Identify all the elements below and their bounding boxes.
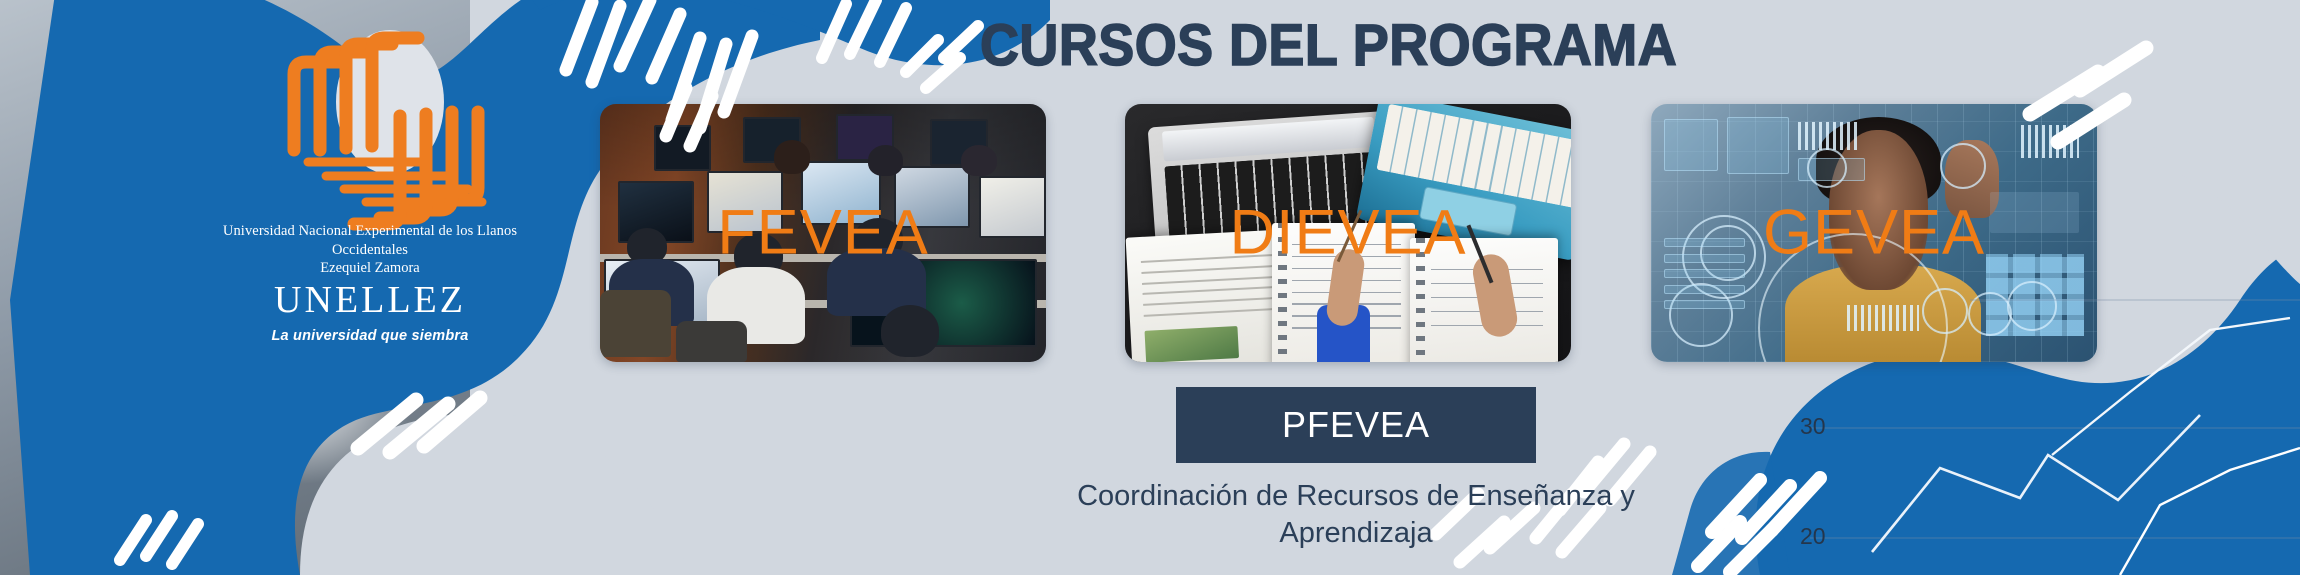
- program-caption: Coordinación de Recursos de Enseñanza y …: [1020, 478, 1692, 552]
- course-label-dievea: DIEVEA: [1125, 202, 1571, 265]
- pfevea-button[interactable]: PFEVEA: [1176, 387, 1536, 463]
- unellez-logo-icon: [282, 28, 492, 234]
- course-label-fevea: FEVEA: [600, 202, 1046, 265]
- unellez-logo-text: Universidad Nacional Experimental de los…: [190, 222, 550, 344]
- logo-institution-line-2: Ezequiel Zamora: [190, 259, 550, 278]
- program-caption-line-1: Coordinación de Recursos de Enseñanza y: [1077, 480, 1635, 512]
- banner-root: Universidad Nacional Experimental de los…: [0, 0, 2300, 575]
- program-caption-line-2: Aprendizaja: [1279, 517, 1432, 549]
- logo-tagline: La universidad que siembra: [190, 328, 550, 344]
- course-card-gevea[interactable]: GEVEA: [1651, 104, 2097, 362]
- course-card-dievea[interactable]: DIEVEA: [1125, 104, 1571, 362]
- logo-institution-line-1: Universidad Nacional Experimental de los…: [190, 222, 550, 259]
- logo-acronym: UNELLEZ: [190, 281, 550, 319]
- course-card-fevea[interactable]: FEVEA: [600, 104, 1046, 362]
- course-label-gevea: GEVEA: [1651, 202, 2097, 265]
- page-title: CURSOS DEL PROGRAMA: [980, 12, 1677, 79]
- chart-ytick-20: 20: [1800, 523, 1826, 550]
- chart-ytick-30: 30: [1800, 413, 1826, 440]
